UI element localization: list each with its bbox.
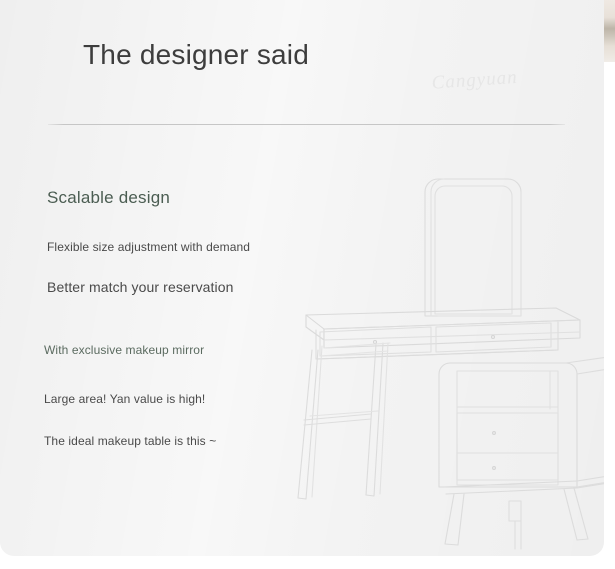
section-makeup-mirror: With exclusive makeup mirror Large area!… bbox=[44, 343, 216, 448]
page-root: The designer said Cangyuan bbox=[0, 0, 615, 569]
spacer bbox=[44, 357, 216, 392]
spacer bbox=[44, 406, 216, 434]
vanity-desk-illustration bbox=[268, 150, 604, 556]
content-card: The designer said Cangyuan bbox=[0, 0, 604, 556]
title-divider bbox=[48, 124, 565, 125]
section-heading: With exclusive makeup mirror bbox=[44, 343, 216, 357]
section-heading: Scalable design bbox=[47, 188, 250, 208]
adjacent-image-edge-strip bbox=[604, 0, 615, 62]
page-title: The designer said bbox=[83, 39, 309, 71]
spacer bbox=[47, 254, 250, 279]
spacer bbox=[47, 208, 250, 240]
section-line: Flexible size adjustment with demand bbox=[47, 240, 250, 254]
section-scalable-design: Scalable design Flexible size adjustment… bbox=[47, 188, 250, 295]
section-line: Large area! Yan value is high! bbox=[44, 392, 216, 406]
section-line: Better match your reservation bbox=[47, 279, 250, 295]
section-line: The ideal makeup table is this ~ bbox=[44, 434, 216, 448]
watermark-text: Cangyuan bbox=[431, 63, 569, 106]
